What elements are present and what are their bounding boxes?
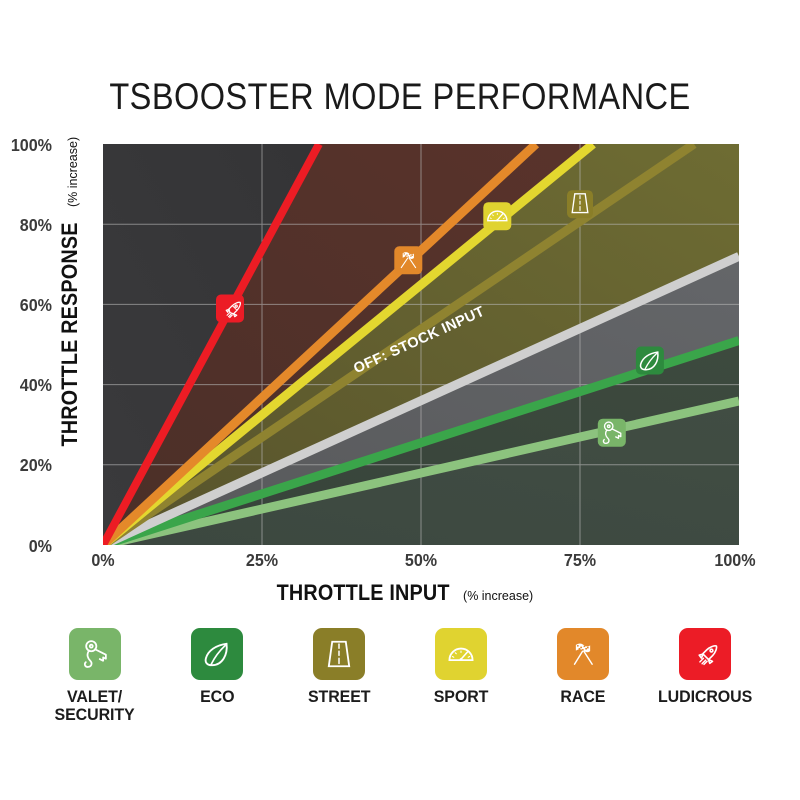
legend-swatch-sport [435,628,487,680]
x-tick-50: 50% [380,550,463,571]
legend-item-valet-security[interactable]: VALET/ SECURITY [52,628,138,723]
y-axis-title: THROTTLE RESPONSE(% increase) [57,88,83,508]
marker-sport[interactable] [483,202,511,230]
marker-eco[interactable] [636,347,664,375]
x-tick-25: 25% [221,550,304,571]
legend-swatch-race [557,628,609,680]
legend-item-sport[interactable]: SPORT [418,628,504,706]
legend-label-race: RACE [561,688,606,706]
legend-swatch-ludicrous [679,628,731,680]
legend-label-ludicrous: LUDICROUS [658,688,752,706]
plot-area: OFF: STOCK INPUT [103,144,739,545]
legend-label-eco: ECO [200,688,234,706]
legend: VALET/ SECURITY ECO [0,628,800,723]
legend-swatch-street [313,628,365,680]
key-icon [78,637,112,671]
y-axis-title-sub: (% increase) [66,137,80,207]
y-tick-0: 0% [0,536,52,557]
speedometer-icon [444,637,478,671]
marker-street[interactable] [567,190,593,218]
x-tick-100: 100% [694,550,777,571]
legend-item-ludicrous[interactable]: LUDICROUS [662,628,748,706]
marker-ludicrous[interactable] [216,295,244,323]
x-tick-75: 75% [539,550,622,571]
x-axis-title-sub: (% increase) [463,589,533,603]
chart-canvas: OFF: STOCK INPUT [103,144,739,545]
legend-item-race[interactable]: RACE [540,628,626,706]
y-tick-20: 20% [0,455,52,476]
legend-label-valet-security: VALET/ SECURITY [55,688,135,723]
legend-swatch-valet-security [69,628,121,680]
leaf-icon [200,637,234,671]
x-axis-title: THROTTLE INPUT(% increase) [0,580,800,606]
legend-swatch-eco [191,628,243,680]
x-tick-0: 0% [62,550,145,571]
y-tick-40: 40% [0,375,52,396]
checkered-flags-icon [566,637,600,671]
chart-page: TSBOOSTER MODE PERFORMANCE THROTTLE RESP… [0,0,800,800]
y-tick-100: 100% [0,135,52,156]
x-axis-title-main: THROTTLE INPUT [276,580,449,606]
legend-label-street: STREET [308,688,370,706]
legend-label-sport: SPORT [434,688,489,706]
road-icon [322,637,356,671]
y-tick-60: 60% [0,295,52,316]
page-title: TSBOOSTER MODE PERFORMANCE [48,76,752,118]
marker-race[interactable] [394,246,422,274]
legend-item-eco[interactable]: ECO [174,628,260,706]
marker-valet-security[interactable] [598,419,626,447]
rocket-icon [688,637,722,671]
y-axis-title-main: THROTTLE RESPONSE [57,223,83,447]
y-tick-80: 80% [0,215,52,236]
legend-item-street[interactable]: STREET [296,628,382,706]
